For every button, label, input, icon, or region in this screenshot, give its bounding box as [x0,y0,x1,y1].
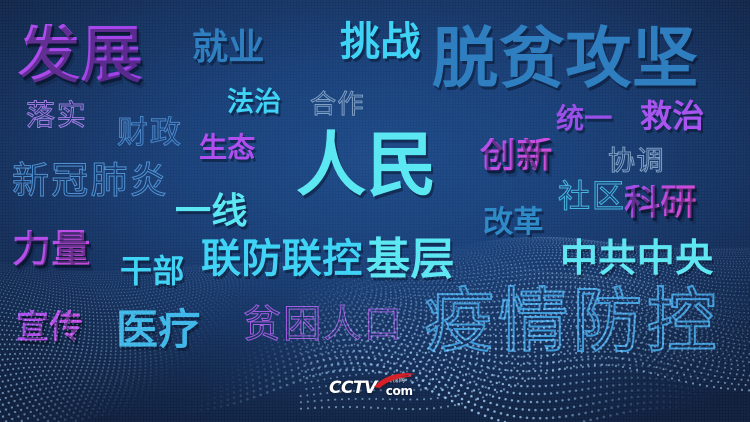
cloud-word-jiuye: 就业 [192,30,265,66]
cloud-word-hezuo: 合作 [310,92,365,118]
cctv-domain: com [386,385,413,397]
cloud-word-tupingongjian: 脱贫攻坚 [432,26,699,92]
cloud-word-keyan: 科研 [624,185,697,221]
cloud-word-renmin: 人民 [296,130,437,200]
cloud-word-tiaozhan: 挑战 [340,22,421,62]
cloud-word-xietiao: 协调 [608,148,665,175]
cloud-word-jiuzhi: 救治 [640,100,705,132]
cctv-logo: CCTV 央视网 com [329,378,413,397]
cctv-wordmark: CCTV [329,380,377,397]
cloud-word-caizheng: 财政 [117,118,183,149]
cloud-word-yixian: 一线 [175,194,248,230]
cloud-word-tongyi: 统一 [556,105,613,133]
cloud-word-fazhan: 发展 [18,24,143,86]
cloud-word-shequ: 社区 [558,180,626,212]
cloud-word-shengtai: 生态 [199,134,256,162]
cloud-word-fazhi: 法治 [227,89,282,116]
cloud-word-xinguanfeiyan: 新冠肺炎 [12,162,169,199]
cloud-word-luoshi: 落实 [26,101,87,130]
word-cloud-graphic: 发展就业挑战脱贫攻坚落实法治合作统一救治财政生态人民创新协调新冠肺炎社区科研一线… [0,0,750,422]
cloud-word-chuangxin: 创新 [480,138,553,174]
